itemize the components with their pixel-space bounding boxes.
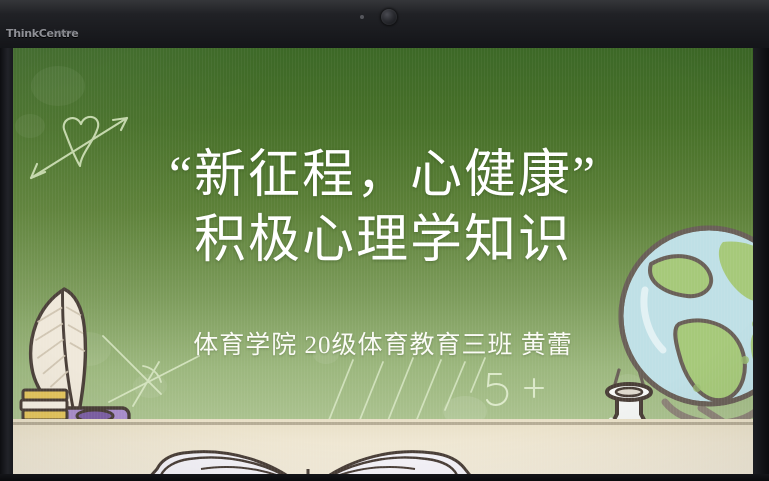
webcam-icon — [381, 9, 397, 25]
monitor-screen[interactable]: “新征程，心健康” 积极心理学知识 体育学院 20级体育教育三班 黄蕾 — [13, 44, 753, 481]
brand-sub-logo: Lenovo — [54, 30, 68, 36]
bezel-top: ThinkCentre Lenovo — [0, 0, 769, 48]
page-title-line-1: “新征程，心健康” — [13, 147, 753, 205]
bezel-left — [0, 44, 13, 481]
desk-edge — [13, 422, 753, 425]
monitor: “新征程，心健康” 积极心理学知识 体育学院 20级体育教育三班 黄蕾 — [0, 0, 769, 481]
plus-five-icon — [483, 366, 553, 414]
bezel-right — [753, 40, 769, 481]
webcam-led-icon — [360, 15, 364, 19]
bezel-bottom — [0, 474, 769, 481]
